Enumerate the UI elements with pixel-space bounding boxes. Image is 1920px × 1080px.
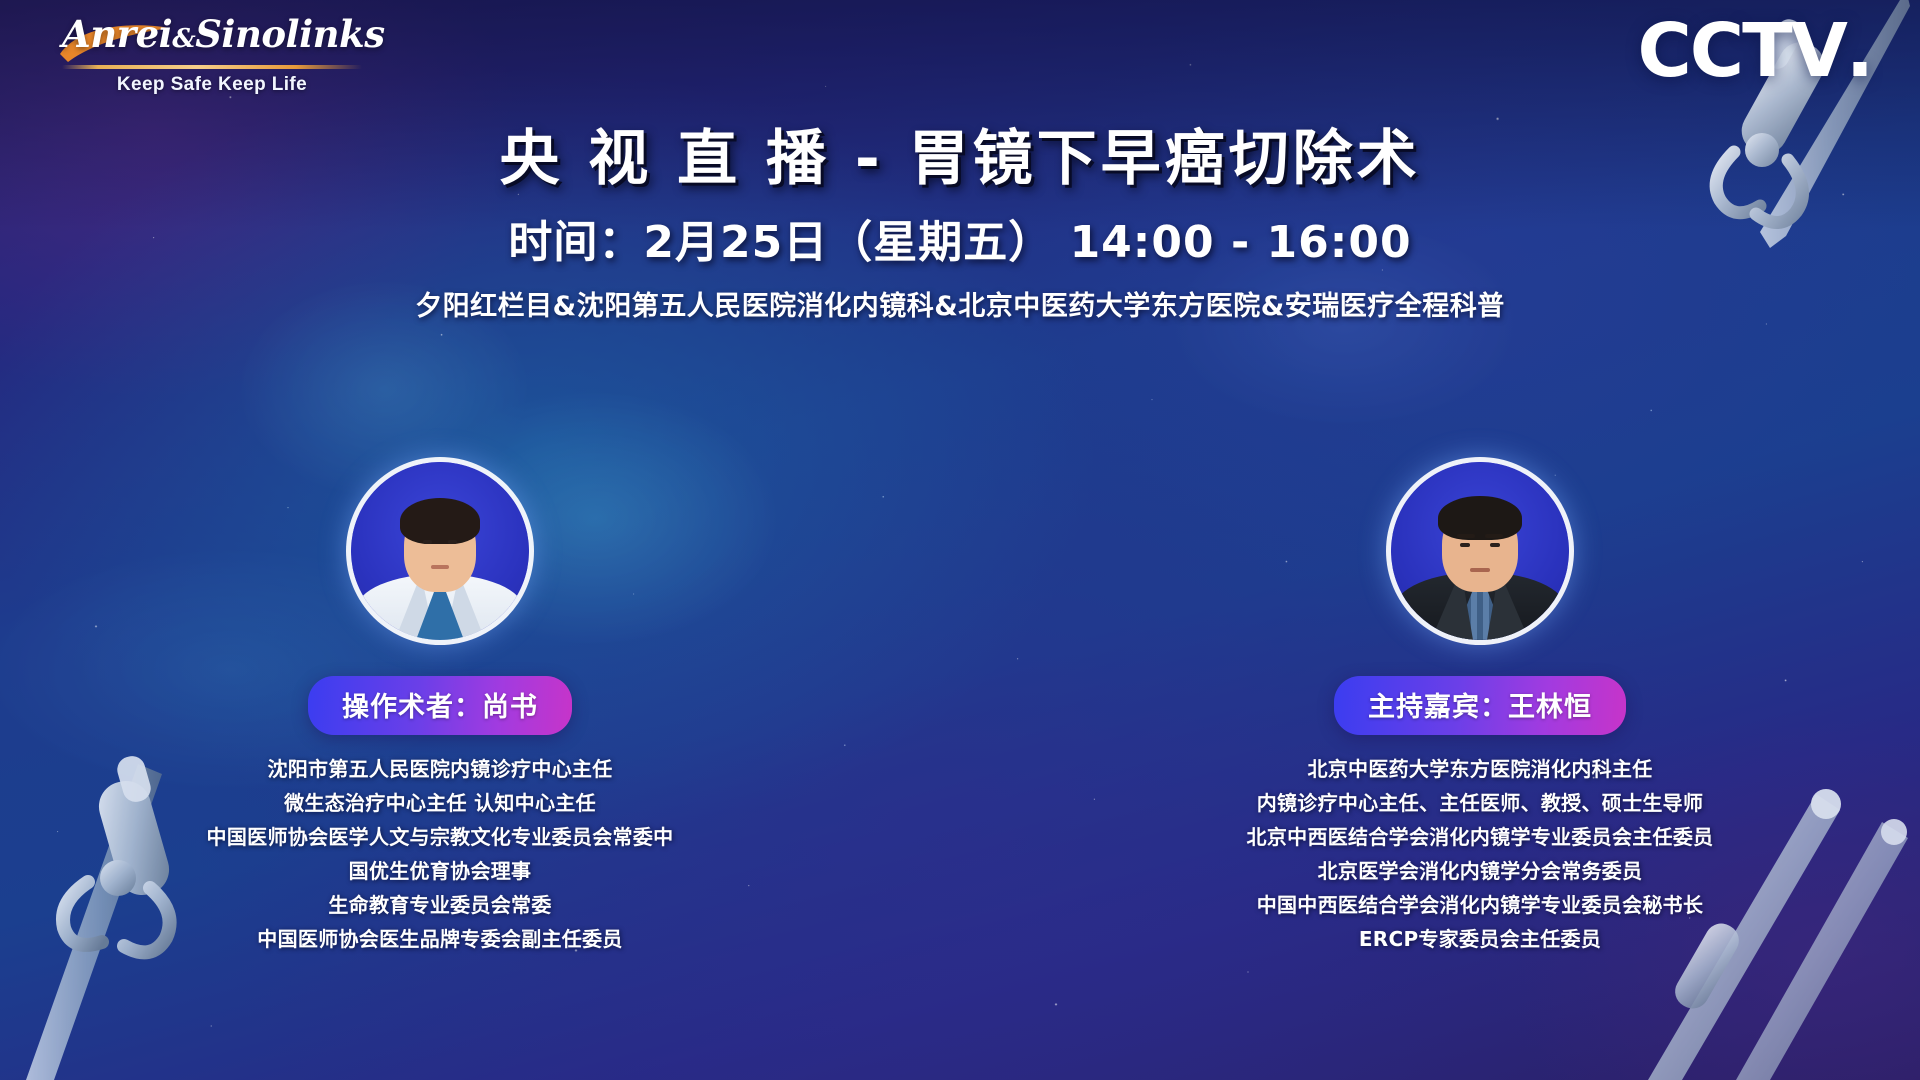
credential-item: 北京医学会消化内镜学分会常务委员 <box>1318 859 1643 884</box>
brand-wordmark: Anrei&Sinolinks <box>62 16 362 53</box>
cctv-logo-text: CCTV <box>1638 8 1846 94</box>
credential-item: 微生态治疗中心主任 认知中心主任 <box>284 791 596 816</box>
credential-item: ERCP专家委员会主任委员 <box>1359 927 1601 952</box>
credential-item: 北京中医药大学东方医院消化内科主任 <box>1307 757 1652 782</box>
brand-name-part1: Anrei <box>62 12 172 56</box>
speaker-card-operator: 操作术者：尚书 沈阳市第五人民医院内镜诊疗中心主任 微生态治疗中心主任 认知中心… <box>140 462 740 952</box>
cctv-logo: CCTV. <box>1638 14 1875 88</box>
avatar-hair <box>400 498 480 544</box>
credential-item: 中国医师协会医学人文与宗教文化专业委员会常委中 <box>207 825 674 850</box>
credential-item: 中国中西医结合学会消化内镜学专业委员会秘书长 <box>1257 893 1704 918</box>
credential-item: 沈阳市第五人民医院内镜诊疗中心主任 <box>267 757 612 782</box>
cctv-logo-dot: . <box>1846 8 1874 94</box>
page-title: 央 视 直 播 - 胃镜下早癌切除术 <box>0 126 1920 192</box>
speaker-name-badge: 主持嘉宾：王林恒 <box>1334 676 1626 735</box>
avatar-eye-left <box>423 540 432 544</box>
partners-line: 夕阳红栏目&沈阳第五人民医院消化内镜科&北京中医药大学东方医院&安瑞医疗全程科普 <box>0 291 1920 323</box>
brand-ampersand: & <box>172 24 195 54</box>
brand-logo: Anrei&Sinolinks Keep Safe Keep Life <box>62 16 362 96</box>
credential-item: 国优生优育协会理事 <box>349 859 532 884</box>
brand-name-part2: Sinolinks <box>195 12 384 56</box>
credential-item: 生命教育专业委员会常委 <box>328 893 551 918</box>
credential-item: 中国医师协会医生品牌专委会副主任委员 <box>257 927 622 952</box>
broadcast-time: 时间：2月25日（星期五） 14:00 - 16:00 <box>0 218 1920 269</box>
speaker-card-host: 主持嘉宾：王林恒 北京中医药大学东方医院消化内科主任 内镜诊疗中心主任、主任医师… <box>1180 462 1780 952</box>
headline-block: 央 视 直 播 - 胃镜下早癌切除术 时间：2月25日（星期五） 14:00 -… <box>0 126 1920 323</box>
speaker-credentials-list: 北京中医药大学东方医院消化内科主任 内镜诊疗中心主任、主任医师、教授、硕士生导师… <box>1247 757 1714 952</box>
speaker-credentials-list: 沈阳市第五人民医院内镜诊疗中心主任 微生态治疗中心主任 认知中心主任 中国医师协… <box>207 757 674 952</box>
speakers-row: 操作术者：尚书 沈阳市第五人民医院内镜诊疗中心主任 微生态治疗中心主任 认知中心… <box>0 462 1920 952</box>
avatar-eyebrow-right <box>1485 534 1503 538</box>
brand-divider <box>62 65 362 69</box>
speaker-name-badge: 操作术者：尚书 <box>308 676 572 735</box>
avatar-operator <box>351 462 529 640</box>
avatar-mouth <box>431 565 449 569</box>
avatar-eye-right <box>1490 543 1500 547</box>
credential-item: 内镜诊疗中心主任、主任医师、教授、硕士生导师 <box>1257 791 1704 816</box>
avatar-eyebrow-left <box>1457 534 1475 538</box>
brand-tagline: Keep Safe Keep Life <box>62 74 362 96</box>
avatar-mouth <box>1470 568 1490 572</box>
avatar-eye-left <box>1460 543 1470 547</box>
avatar-hair <box>1438 496 1522 540</box>
live-broadcast-poster: Anrei&Sinolinks Keep Safe Keep Life CCTV… <box>0 0 1920 1080</box>
avatar-eye-right <box>448 540 457 544</box>
avatar-host <box>1391 462 1569 640</box>
credential-item: 北京中西医结合学会消化内镜学专业委员会主任委员 <box>1247 825 1714 850</box>
